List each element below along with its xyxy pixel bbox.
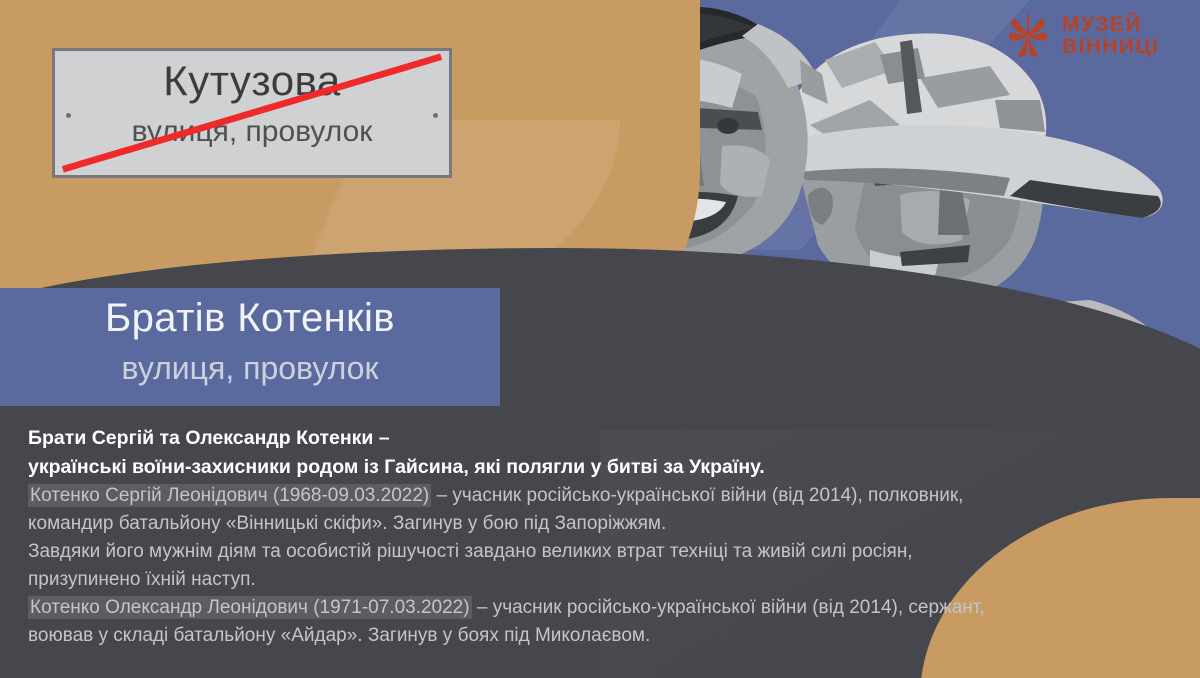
strikethrough-icon (55, 51, 449, 175)
street-renaming-poster: Кутузова вулиця, провулок Братів Котенкі… (0, 0, 1200, 678)
lead-line: Брати Сергій та Олександр Котенки – (28, 424, 1168, 453)
museum-logo-line1: МУЗЕЙ (1062, 14, 1159, 36)
new-street-name: Братів Котенків (0, 296, 500, 341)
paragraph-text: – учасник російсько-української війни (в… (472, 597, 985, 618)
paragraph-line: Котенко Сергій Леонідович (1968-09.03.20… (28, 482, 1168, 510)
lead-line: українські воїни-захисники родом із Гайс… (28, 453, 1168, 482)
paragraph-line: призупинено їхній наступ. (28, 566, 1168, 594)
person-name-highlight: Котенко Олександр Леонідович (1971-07.03… (28, 596, 472, 619)
biography-text-block: Брати Сергій та Олександр Котенки – укра… (28, 424, 1168, 650)
paragraph-text: – учасник російсько-української війни (в… (431, 485, 963, 506)
old-street-sign: Кутузова вулиця, провулок (52, 48, 452, 178)
museum-logo-text: МУЗЕЙ ВІННИЦІ (1062, 14, 1159, 58)
paragraph-line: Завдяки його мужнім діям та особистій рі… (28, 538, 1168, 566)
paragraph-line: командир батальйону «Вінницькі скіфи». З… (28, 510, 1168, 538)
new-street-type: вулиця, провулок (0, 350, 500, 387)
paragraph-line: воював у складі батальйону «Айдар». Заги… (28, 622, 1168, 650)
museum-logo-line2: ВІННИЦІ (1062, 36, 1159, 58)
paragraph-line: Котенко Олександр Леонідович (1971-07.03… (28, 594, 1168, 622)
new-street-banner: Братів Котенків вулиця, провулок (0, 288, 500, 406)
person-name-highlight: Котенко Сергій Леонідович (1968-09.03.20… (28, 484, 431, 507)
vinnytsia-museum-star-icon (1004, 12, 1052, 60)
museum-logo[interactable]: МУЗЕЙ ВІННИЦІ (1004, 8, 1184, 64)
